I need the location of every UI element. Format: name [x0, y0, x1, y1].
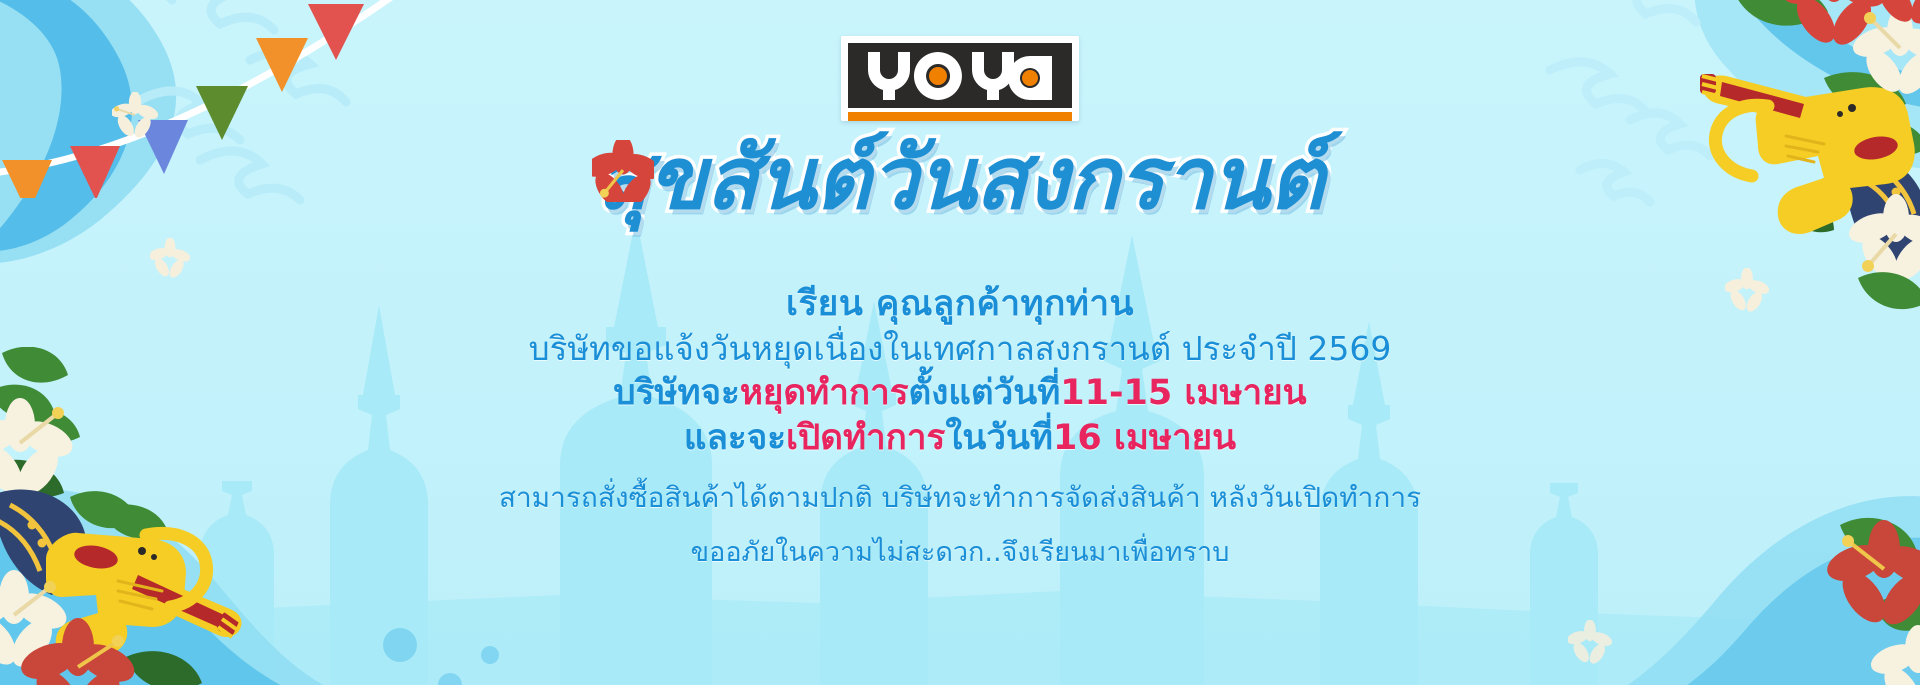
- closed-highlight: หยุดทำการ: [740, 373, 909, 413]
- blossom-icon: [112, 92, 158, 138]
- songkran-banner: สุขสันต์วันสงกรานต์ เรียน คุณลูกค้าทุกท่…: [0, 0, 1920, 685]
- closed-prefix: บริษัทจะ: [613, 373, 739, 413]
- yoya-logo: [841, 36, 1079, 121]
- logo-dot-a: [1022, 70, 1038, 86]
- greeting-line: เรียน คุณลูกค้าทุกท่าน: [0, 286, 1920, 323]
- closed-middle: ตั้งแต่วันที่: [909, 373, 1061, 413]
- blossom-icon: [1568, 620, 1612, 664]
- message-block: เรียน คุณลูกค้าทุกท่าน บริษัทขอแจ้งวันหย…: [0, 286, 1920, 568]
- reopen-date-line: และจะเปิดทำการในวันที่16 เมษายน: [0, 420, 1920, 457]
- logo-wordmark: [864, 48, 1056, 104]
- logo-underbar: [848, 112, 1072, 121]
- reopen-middle: ในวันที่: [945, 418, 1053, 458]
- notice-line: บริษัทขอแจ้งวันหยุดเนื่องในเทศกาลสงกรานต…: [0, 332, 1920, 367]
- blossom-icon: [150, 238, 190, 278]
- logo-box: [848, 43, 1072, 108]
- corner-decoration-top-right: [1628, 0, 1920, 326]
- reopen-dates: 16 เมษายน: [1053, 418, 1236, 458]
- bunting-flags-icon: [0, 0, 410, 198]
- reopen-highlight: เปิดทำการ: [786, 418, 945, 458]
- apology-line: ขออภัยในความไม่สะดวก..จึงเรียนมาเพื่อทรา…: [0, 539, 1920, 568]
- ordering-line: สามารถสั่งซื้อสินค้าได้ตามปกติ บริษัทจะท…: [0, 483, 1920, 513]
- logo-dot-o: [929, 67, 947, 85]
- reopen-prefix: และจะ: [684, 418, 786, 458]
- closed-dates-line: บริษัทจะหยุดทำการตั้งแต่วันที่11-15 เมษา…: [0, 375, 1920, 412]
- closed-dates: 11-15 เมษายน: [1060, 373, 1306, 413]
